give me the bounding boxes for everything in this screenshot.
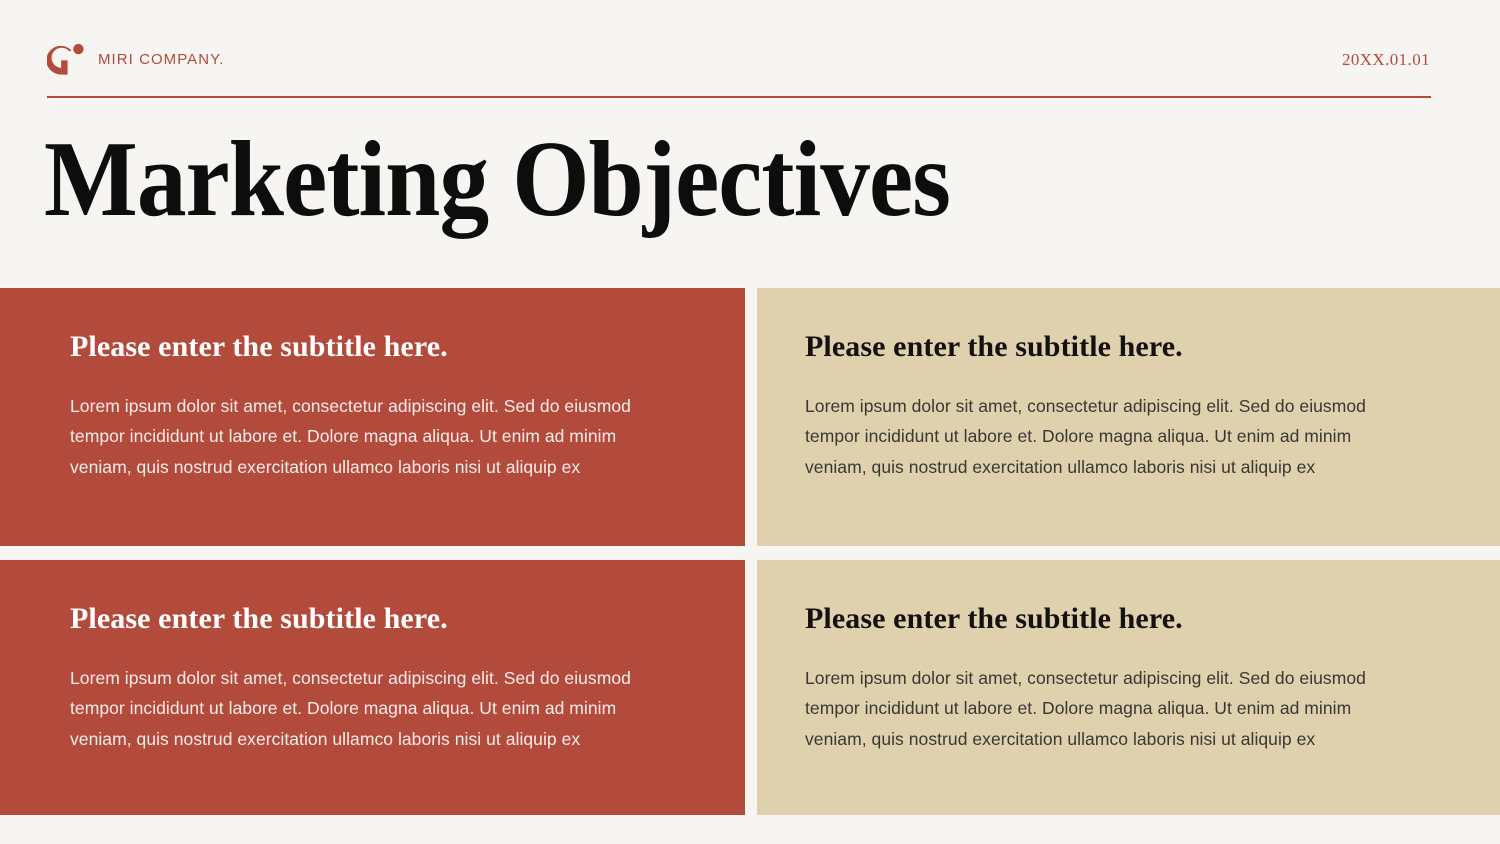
objective-card-2: Please enter the subtitle here. Lorem ip…: [757, 288, 1500, 546]
card-subtitle: Please enter the subtitle here.: [70, 330, 697, 363]
card-body-text: Lorem ipsum dolor sit amet, consectetur …: [70, 391, 670, 482]
header-date: 20XX.01.01: [1342, 51, 1430, 68]
card-subtitle: Please enter the subtitle here.: [70, 602, 697, 635]
card-subtitle: Please enter the subtitle here.: [805, 330, 1452, 363]
card-body-text: Lorem ipsum dolor sit amet, consectetur …: [805, 663, 1405, 754]
card-body-text: Lorem ipsum dolor sit amet, consectetur …: [70, 663, 670, 754]
objective-card-3: Please enter the subtitle here. Lorem ip…: [0, 560, 745, 815]
slide-canvas: MIRI COMPANY. 20XX.01.01 Marketing Objec…: [0, 0, 1500, 844]
brand-name: MIRI COMPANY.: [98, 52, 224, 67]
slide-header: MIRI COMPANY. 20XX.01.01: [47, 36, 1430, 82]
objectives-card-grid: Please enter the subtitle here. Lorem ip…: [0, 288, 1500, 815]
miri-crescent-dot-logo-icon: [47, 42, 85, 76]
objective-card-1: Please enter the subtitle here. Lorem ip…: [0, 288, 745, 546]
brand-lockup: MIRI COMPANY.: [47, 42, 224, 76]
objective-card-4: Please enter the subtitle here. Lorem ip…: [757, 560, 1500, 815]
header-divider: [47, 96, 1431, 98]
page-title: Marketing Objectives: [44, 126, 950, 234]
card-body-text: Lorem ipsum dolor sit amet, consectetur …: [805, 391, 1405, 482]
card-subtitle: Please enter the subtitle here.: [805, 602, 1452, 635]
